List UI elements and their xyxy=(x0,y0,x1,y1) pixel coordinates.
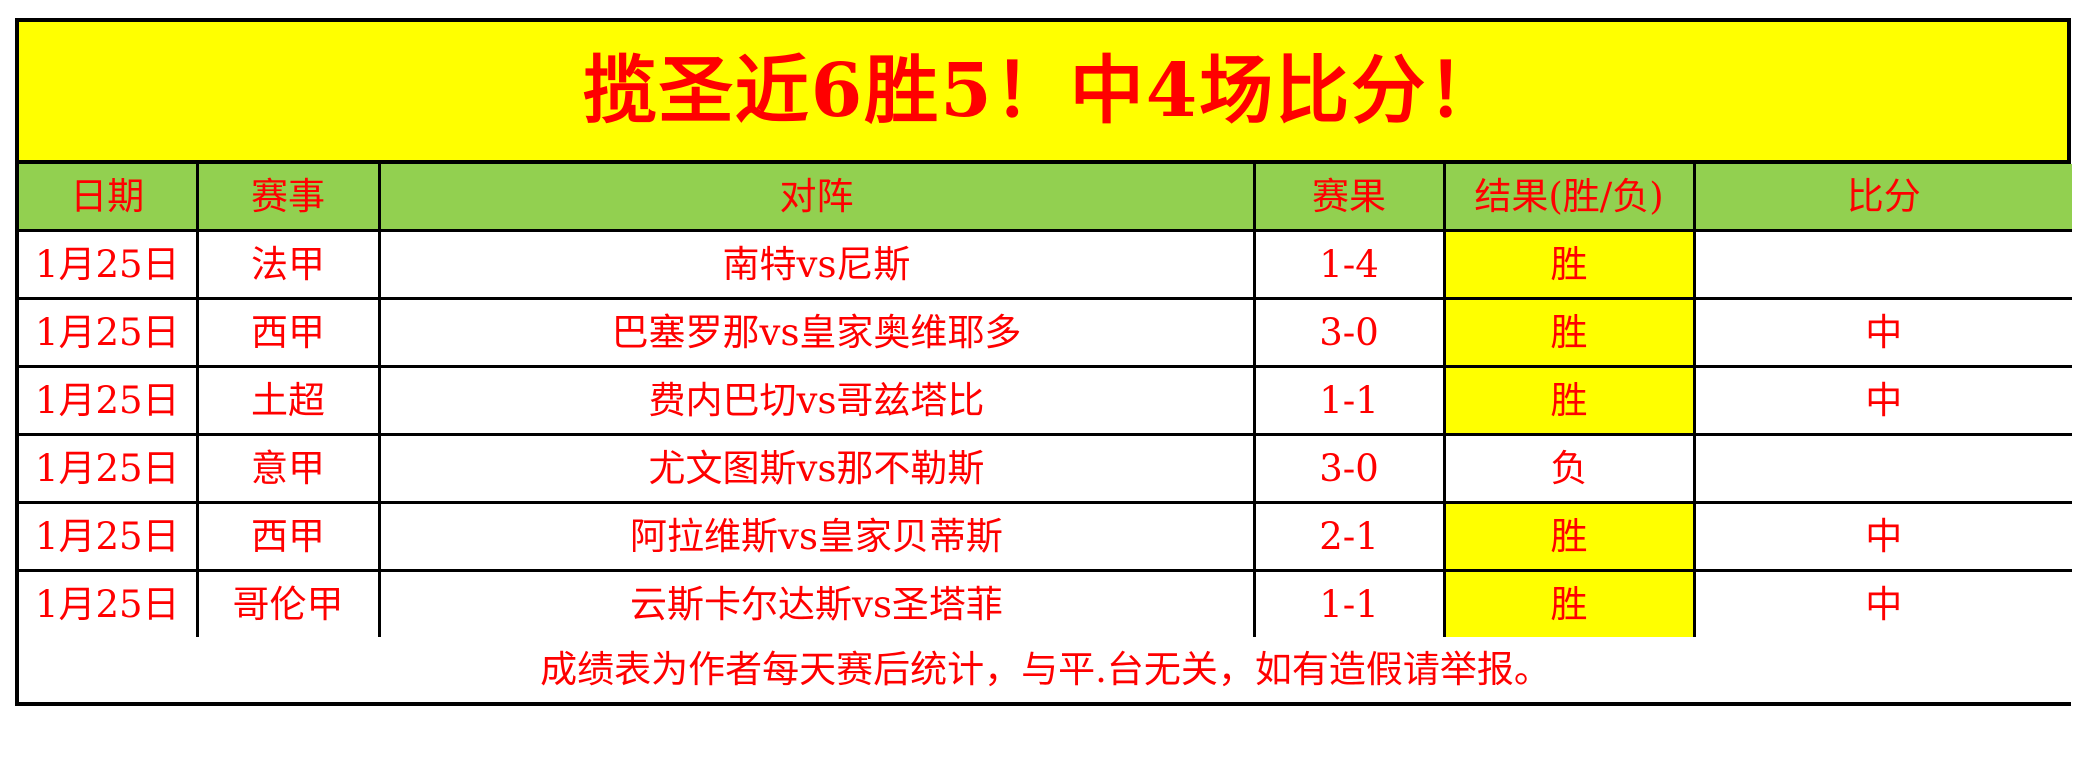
cell-league: 西甲 xyxy=(197,299,379,367)
column-header-match: 对阵 xyxy=(379,164,1254,231)
cell-league: 哥伦甲 xyxy=(197,571,379,638)
footnote-text: 成绩表为作者每天赛后统计，与平.台无关，如有造假请举报。 xyxy=(19,637,2072,702)
table-header-row: 日期 赛事 对阵 赛果 结果(胜/负) 比分 xyxy=(19,164,2072,231)
cell-date: 1月25日 xyxy=(19,435,197,503)
cell-match: 云斯卡尔达斯vs圣塔菲 xyxy=(379,571,1254,638)
cell-date: 1月25日 xyxy=(19,571,197,638)
page-title: 揽圣近6胜5！中4场比分！ xyxy=(583,54,1503,128)
cell-date: 1月25日 xyxy=(19,503,197,571)
cell-winloss: 胜 xyxy=(1444,503,1694,571)
cell-winloss: 胜 xyxy=(1444,231,1694,299)
cell-winloss: 胜 xyxy=(1444,367,1694,435)
cell-winloss: 负 xyxy=(1444,435,1694,503)
cell-score xyxy=(1694,435,2072,503)
cell-league: 意甲 xyxy=(197,435,379,503)
cell-result: 1-4 xyxy=(1254,231,1444,299)
table-body: 1月25日法甲南特vs尼斯1-4胜1月25日西甲巴塞罗那vs皇家奥维耶多3-0胜… xyxy=(19,231,2072,638)
cell-result: 3-0 xyxy=(1254,435,1444,503)
cell-result: 1-1 xyxy=(1254,571,1444,638)
cell-date: 1月25日 xyxy=(19,299,197,367)
cell-score: 中 xyxy=(1694,571,2072,638)
column-header-league: 赛事 xyxy=(197,164,379,231)
cell-winloss: 胜 xyxy=(1444,571,1694,638)
column-header-date: 日期 xyxy=(19,164,197,231)
cell-score: 中 xyxy=(1694,503,2072,571)
cell-result: 2-1 xyxy=(1254,503,1444,571)
table-row: 1月25日土超费内巴切vs哥兹塔比1-1胜中 xyxy=(19,367,2072,435)
table-row: 1月25日哥伦甲云斯卡尔达斯vs圣塔菲1-1胜中 xyxy=(19,571,2072,638)
results-table: 日期 赛事 对阵 赛果 结果(胜/负) 比分 1月25日法甲南特vs尼斯1-4胜… xyxy=(19,164,2072,702)
cell-score xyxy=(1694,231,2072,299)
footnote-row: 成绩表为作者每天赛后统计，与平.台无关，如有造假请举报。 xyxy=(19,637,2072,702)
cell-winloss: 胜 xyxy=(1444,299,1694,367)
cell-result: 1-1 xyxy=(1254,367,1444,435)
cell-match: 南特vs尼斯 xyxy=(379,231,1254,299)
cell-league: 西甲 xyxy=(197,503,379,571)
title-banner: 揽圣近6胜5！中4场比分！ xyxy=(19,22,2067,164)
column-header-score: 比分 xyxy=(1694,164,2072,231)
table-row: 1月25日意甲尤文图斯vs那不勒斯3-0负 xyxy=(19,435,2072,503)
table-row: 1月25日西甲巴塞罗那vs皇家奥维耶多3-0胜中 xyxy=(19,299,2072,367)
cell-date: 1月25日 xyxy=(19,367,197,435)
cell-match: 尤文图斯vs那不勒斯 xyxy=(379,435,1254,503)
cell-match: 阿拉维斯vs皇家贝蒂斯 xyxy=(379,503,1254,571)
cell-league: 法甲 xyxy=(197,231,379,299)
cell-score: 中 xyxy=(1694,299,2072,367)
results-sheet: 揽圣近6胜5！中4场比分！ 日期 赛事 对阵 赛果 结果(胜/负) 比分 1月2… xyxy=(15,18,2071,706)
cell-date: 1月25日 xyxy=(19,231,197,299)
column-header-winloss: 结果(胜/负) xyxy=(1444,164,1694,231)
cell-result: 3-0 xyxy=(1254,299,1444,367)
table-row: 1月25日西甲阿拉维斯vs皇家贝蒂斯2-1胜中 xyxy=(19,503,2072,571)
column-header-result: 赛果 xyxy=(1254,164,1444,231)
cell-match: 费内巴切vs哥兹塔比 xyxy=(379,367,1254,435)
table-row: 1月25日法甲南特vs尼斯1-4胜 xyxy=(19,231,2072,299)
cell-league: 土超 xyxy=(197,367,379,435)
cell-match: 巴塞罗那vs皇家奥维耶多 xyxy=(379,299,1254,367)
cell-score: 中 xyxy=(1694,367,2072,435)
